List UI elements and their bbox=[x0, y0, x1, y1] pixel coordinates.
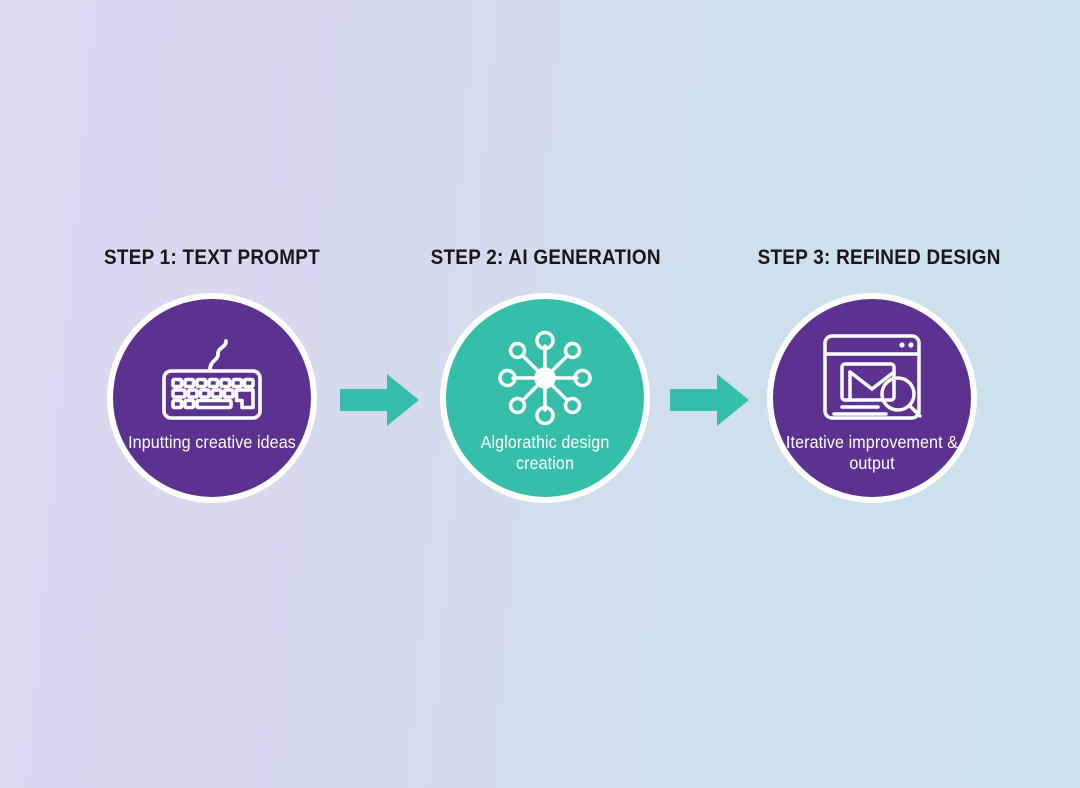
network-hub-icon bbox=[484, 326, 606, 430]
step-1-circle[interactable]: Inputting creative ideas bbox=[107, 293, 317, 503]
infographic-canvas: STEP 1: TEXT PROMPT bbox=[0, 0, 1080, 788]
step-2-circle[interactable]: Alglorathic design creation bbox=[440, 293, 650, 503]
browser-image-search-icon bbox=[811, 326, 933, 430]
step-3-caption: Iterative improvement & output bbox=[785, 432, 960, 473]
step-2-label: STEP 2: AI GENERATION bbox=[431, 245, 660, 270]
keyboard-icon bbox=[151, 326, 273, 430]
step-1-caption: Inputting creative ideas bbox=[125, 432, 300, 453]
step-1-label: STEP 1: TEXT PROMPT bbox=[98, 245, 327, 270]
step-3-label: STEP 3: REFINED DESIGN bbox=[758, 245, 987, 270]
step-3-circle[interactable]: Iterative improvement & output bbox=[767, 293, 977, 503]
arrow-right-icon-1 bbox=[340, 372, 420, 428]
step-2-caption: Alglorathic design creation bbox=[458, 432, 633, 473]
arrow-right-icon-2 bbox=[670, 372, 750, 428]
